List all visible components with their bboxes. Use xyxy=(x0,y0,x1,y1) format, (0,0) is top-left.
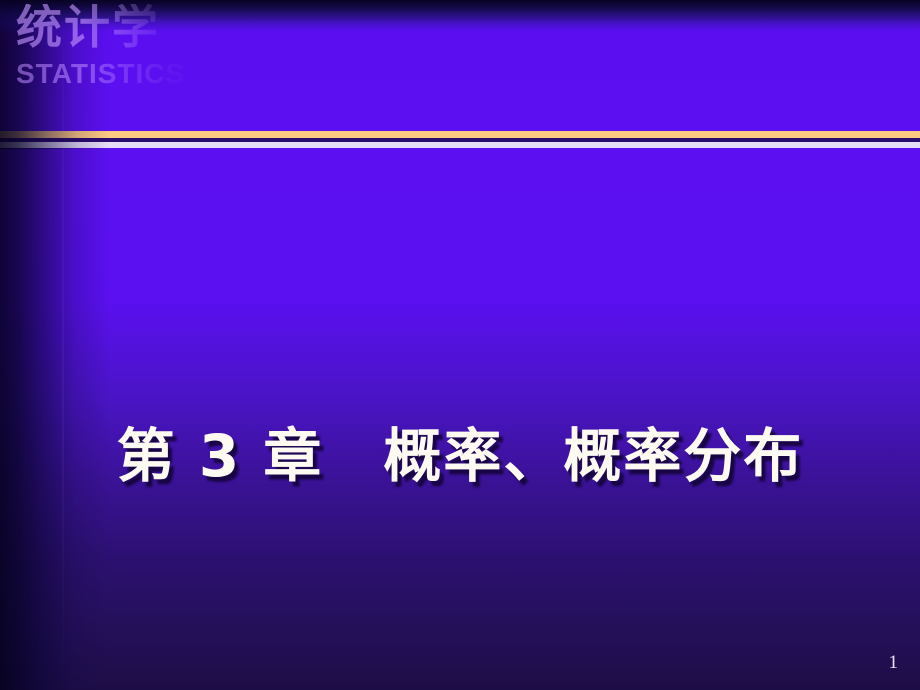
divider-band-white xyxy=(0,142,920,148)
page-number: 1 xyxy=(889,653,899,672)
divider-bands xyxy=(0,131,920,149)
divider-left-fade xyxy=(0,131,110,149)
statistics-logo: 统计学 STATISTICS xyxy=(14,4,244,104)
logo-chinese-text: 统计学 xyxy=(16,4,160,50)
presentation-slide: 统计学 STATISTICS 第 3 章 概率、概率分布 与抽样分布 1 xyxy=(0,0,920,690)
top-vignette xyxy=(0,0,920,34)
divider-band-orange xyxy=(0,131,920,138)
slide-title: 第 3 章 概率、概率分布 与抽样分布 xyxy=(0,206,920,690)
title-line-1: 第 3 章 概率、概率分布 xyxy=(0,406,920,506)
divider-band-dark xyxy=(0,138,920,142)
logo-english-text: STATISTICS xyxy=(16,60,185,88)
